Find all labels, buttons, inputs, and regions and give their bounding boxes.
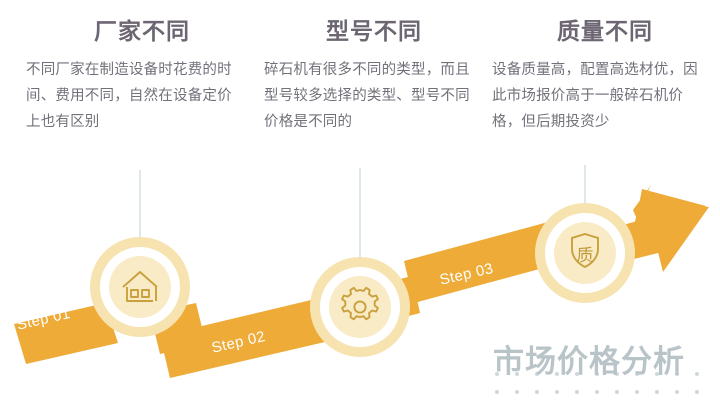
infographic-canvas: 质 厂家不同 不同厂家在制造设备时花费的时间、费用不同，自然在设备定价上也有区别… bbox=[0, 0, 720, 400]
column-2-body: 碎石机有很多不同的类型，而且型号较多选择的类型、型号不同价格是不同的 bbox=[264, 57, 474, 135]
column-3-title: 质量不同 bbox=[506, 12, 704, 46]
column-1-title: 厂家不同 bbox=[48, 12, 236, 46]
column-1-body: 不同厂家在制造设备时花费的时间、费用不同，自然在设备定价上也有区别 bbox=[26, 57, 236, 135]
step-circle-3: 质 bbox=[539, 207, 631, 299]
step-circle-1 bbox=[94, 241, 186, 333]
column-1: 厂家不同 不同厂家在制造设备时花费的时间、费用不同，自然在设备定价上也有区别 bbox=[26, 12, 236, 135]
column-2: 型号不同 碎石机有很多不同的类型，而且型号较多选择的类型、型号不同价格是不同的 bbox=[264, 12, 474, 135]
watermark-text: 市场价格分析 bbox=[493, 336, 685, 381]
step-circle-2 bbox=[314, 261, 406, 353]
column-3: 质量不同 设备质量高，配置高选材优，因此市场报价高于一般碎石机价格，但后期投资少 bbox=[492, 12, 704, 135]
column-3-body: 设备质量高，配置高选材优，因此市场报价高于一般碎石机价格，但后期投资少 bbox=[492, 57, 704, 135]
shield-icon-glyph: 质 bbox=[577, 246, 594, 266]
column-2-title: 型号不同 bbox=[274, 12, 474, 46]
